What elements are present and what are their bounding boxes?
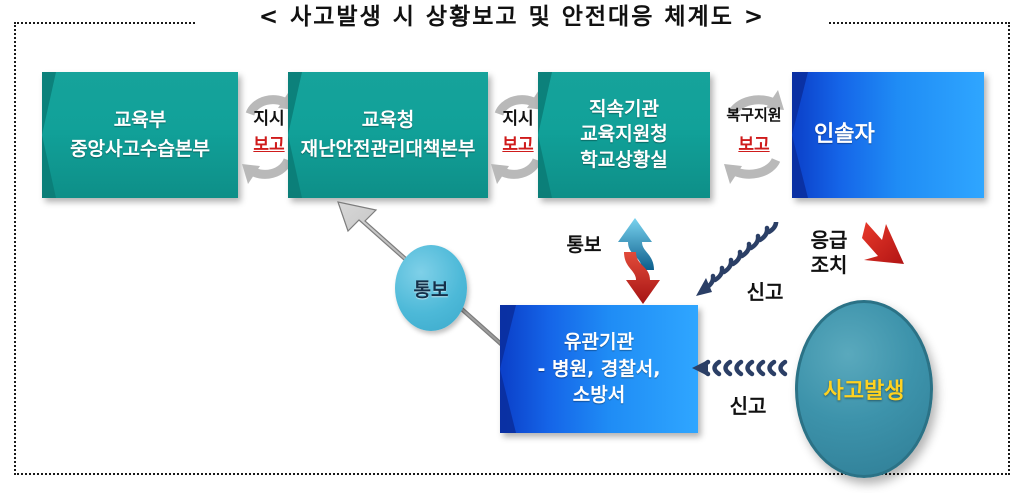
box-office-of-education[interactable]: 교육청 재난안전관리대책본부 — [288, 72, 488, 198]
box-field-line2: 교육지원청 — [580, 122, 667, 147]
up-down-arrow-icon — [612, 212, 674, 308]
label-emergency-line2: 조치 — [798, 253, 860, 278]
connector-field-to-leader: 복구지원 보고 — [718, 80, 790, 192]
page-title: < 사고발생 시 상황보고 및 안전대응 체계도 > — [196, 3, 828, 31]
accident-occurrence-text: 사고발생 — [824, 373, 905, 405]
box-field-line3: 학교상황실 — [580, 148, 667, 173]
report-horizontal-group: 신고 — [688, 352, 808, 436]
box-agency-line1: 유관기관 — [538, 329, 661, 356]
box-field-institutions-text: 직속기관 교육지원청 학교상황실 — [574, 97, 673, 172]
box-office-of-education-text: 교육청 재난안전관리대책본부 — [295, 106, 482, 165]
connector-label-recovery-support: 복구지원 — [718, 104, 790, 125]
box-leader[interactable]: 인솔자 — [792, 72, 984, 198]
box-field-line1: 직속기관 — [580, 97, 667, 122]
label-ellipse-notify-agency: 통보 — [395, 245, 467, 331]
box-ministry-line1: 교육부 — [70, 106, 210, 135]
label-emergency-measures: 응급 조치 — [798, 228, 860, 278]
box-office-line2: 재난안전관리대책본부 — [301, 135, 476, 164]
box-field-institutions[interactable]: 직속기관 교육지원청 학교상황실 — [538, 72, 710, 198]
box-related-agencies[interactable]: 유관기관 - 병원, 경찰서, 소방서 — [500, 305, 698, 433]
label-emergency-line1: 응급 — [798, 228, 860, 253]
diagram-canvas: < 사고발생 시 상황보고 및 안전대응 체계도 > 교육부 중앙사고수습본부 … — [0, 0, 1024, 493]
label-notify-agency: 통보 — [414, 275, 449, 302]
label-report-horizontal: 신고 — [704, 390, 792, 419]
accident-occurrence-node[interactable]: 사고발생 — [795, 300, 933, 478]
box-related-agencies-text: 유관기관 - 병원, 경찰서, 소방서 — [532, 329, 667, 410]
box-ministry-of-education-text: 교육부 중앙사고수습본부 — [64, 106, 216, 165]
box-office-line1: 교육청 — [301, 106, 476, 135]
box-ministry-of-education[interactable]: 교육부 중앙사고수습본부 — [42, 72, 238, 198]
box-leader-text: 인솔자 — [792, 122, 881, 149]
box-agency-line2: - 병원, 경찰서, — [538, 356, 661, 383]
box-agency-line3: 소방서 — [538, 382, 661, 409]
connector-label-report: 보고 — [718, 130, 790, 155]
notify-field-group: 통보 — [556, 212, 674, 308]
label-notify-field: 통보 — [556, 230, 612, 257]
red-arrow-down-right-icon — [856, 218, 926, 294]
box-ministry-line2: 중앙사고수습본부 — [70, 135, 210, 164]
label-report-diagonal: 신고 — [732, 276, 798, 305]
box-leader-line1: 인솔자 — [814, 122, 875, 149]
